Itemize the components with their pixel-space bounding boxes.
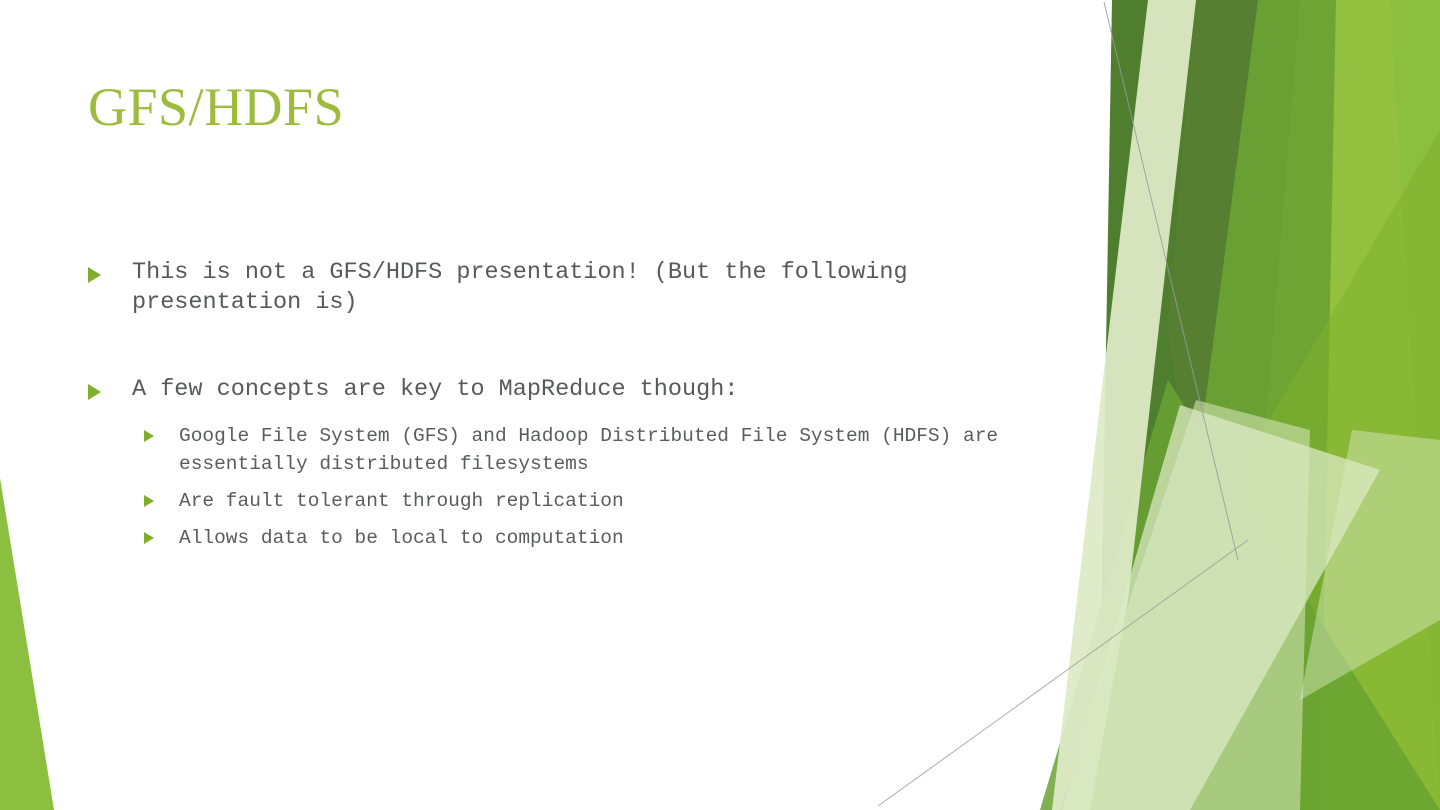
slide-title: GFS/HDFS [88, 78, 344, 137]
slide-canvas: GFS/HDFS This is not a GFS/HDFS presenta… [0, 0, 1440, 810]
bullet-text: A few concepts are key to MapReduce thou… [132, 375, 1073, 405]
bullet-triangle-icon [144, 422, 179, 442]
bullet-text: This is not a GFS/HDFS presentation! (Bu… [132, 258, 1073, 318]
slide-body-placeholder: This is not a GFS/HDFS presentation! (Bu… [88, 258, 1073, 561]
bullet-text: Google File System (GFS) and Hadoop Dist… [179, 422, 1073, 478]
bullet-item-level2: Allows data to be local to computation [144, 524, 1073, 552]
bullet-item-level2: Google File System (GFS) and Hadoop Dist… [144, 422, 1073, 478]
bullet-triangle-icon [144, 487, 179, 507]
bullet-item-level1: A few concepts are key to MapReduce thou… [88, 375, 1073, 405]
bullet-spacer [88, 318, 1073, 375]
bullet-item-level2: Are fault tolerant through replication [144, 487, 1073, 515]
bullet-text: Allows data to be local to computation [179, 524, 1073, 552]
bullet-triangle-icon [88, 258, 132, 283]
bullet-item-level1: This is not a GFS/HDFS presentation! (Bu… [88, 258, 1073, 318]
bullet-text: Are fault tolerant through replication [179, 487, 1073, 515]
bullet-triangle-icon [88, 375, 132, 400]
bullet-triangle-icon [144, 524, 179, 544]
sub-bullet-list: Google File System (GFS) and Hadoop Dist… [88, 422, 1073, 552]
slide-content: GFS/HDFS This is not a GFS/HDFS presenta… [0, 0, 1440, 810]
